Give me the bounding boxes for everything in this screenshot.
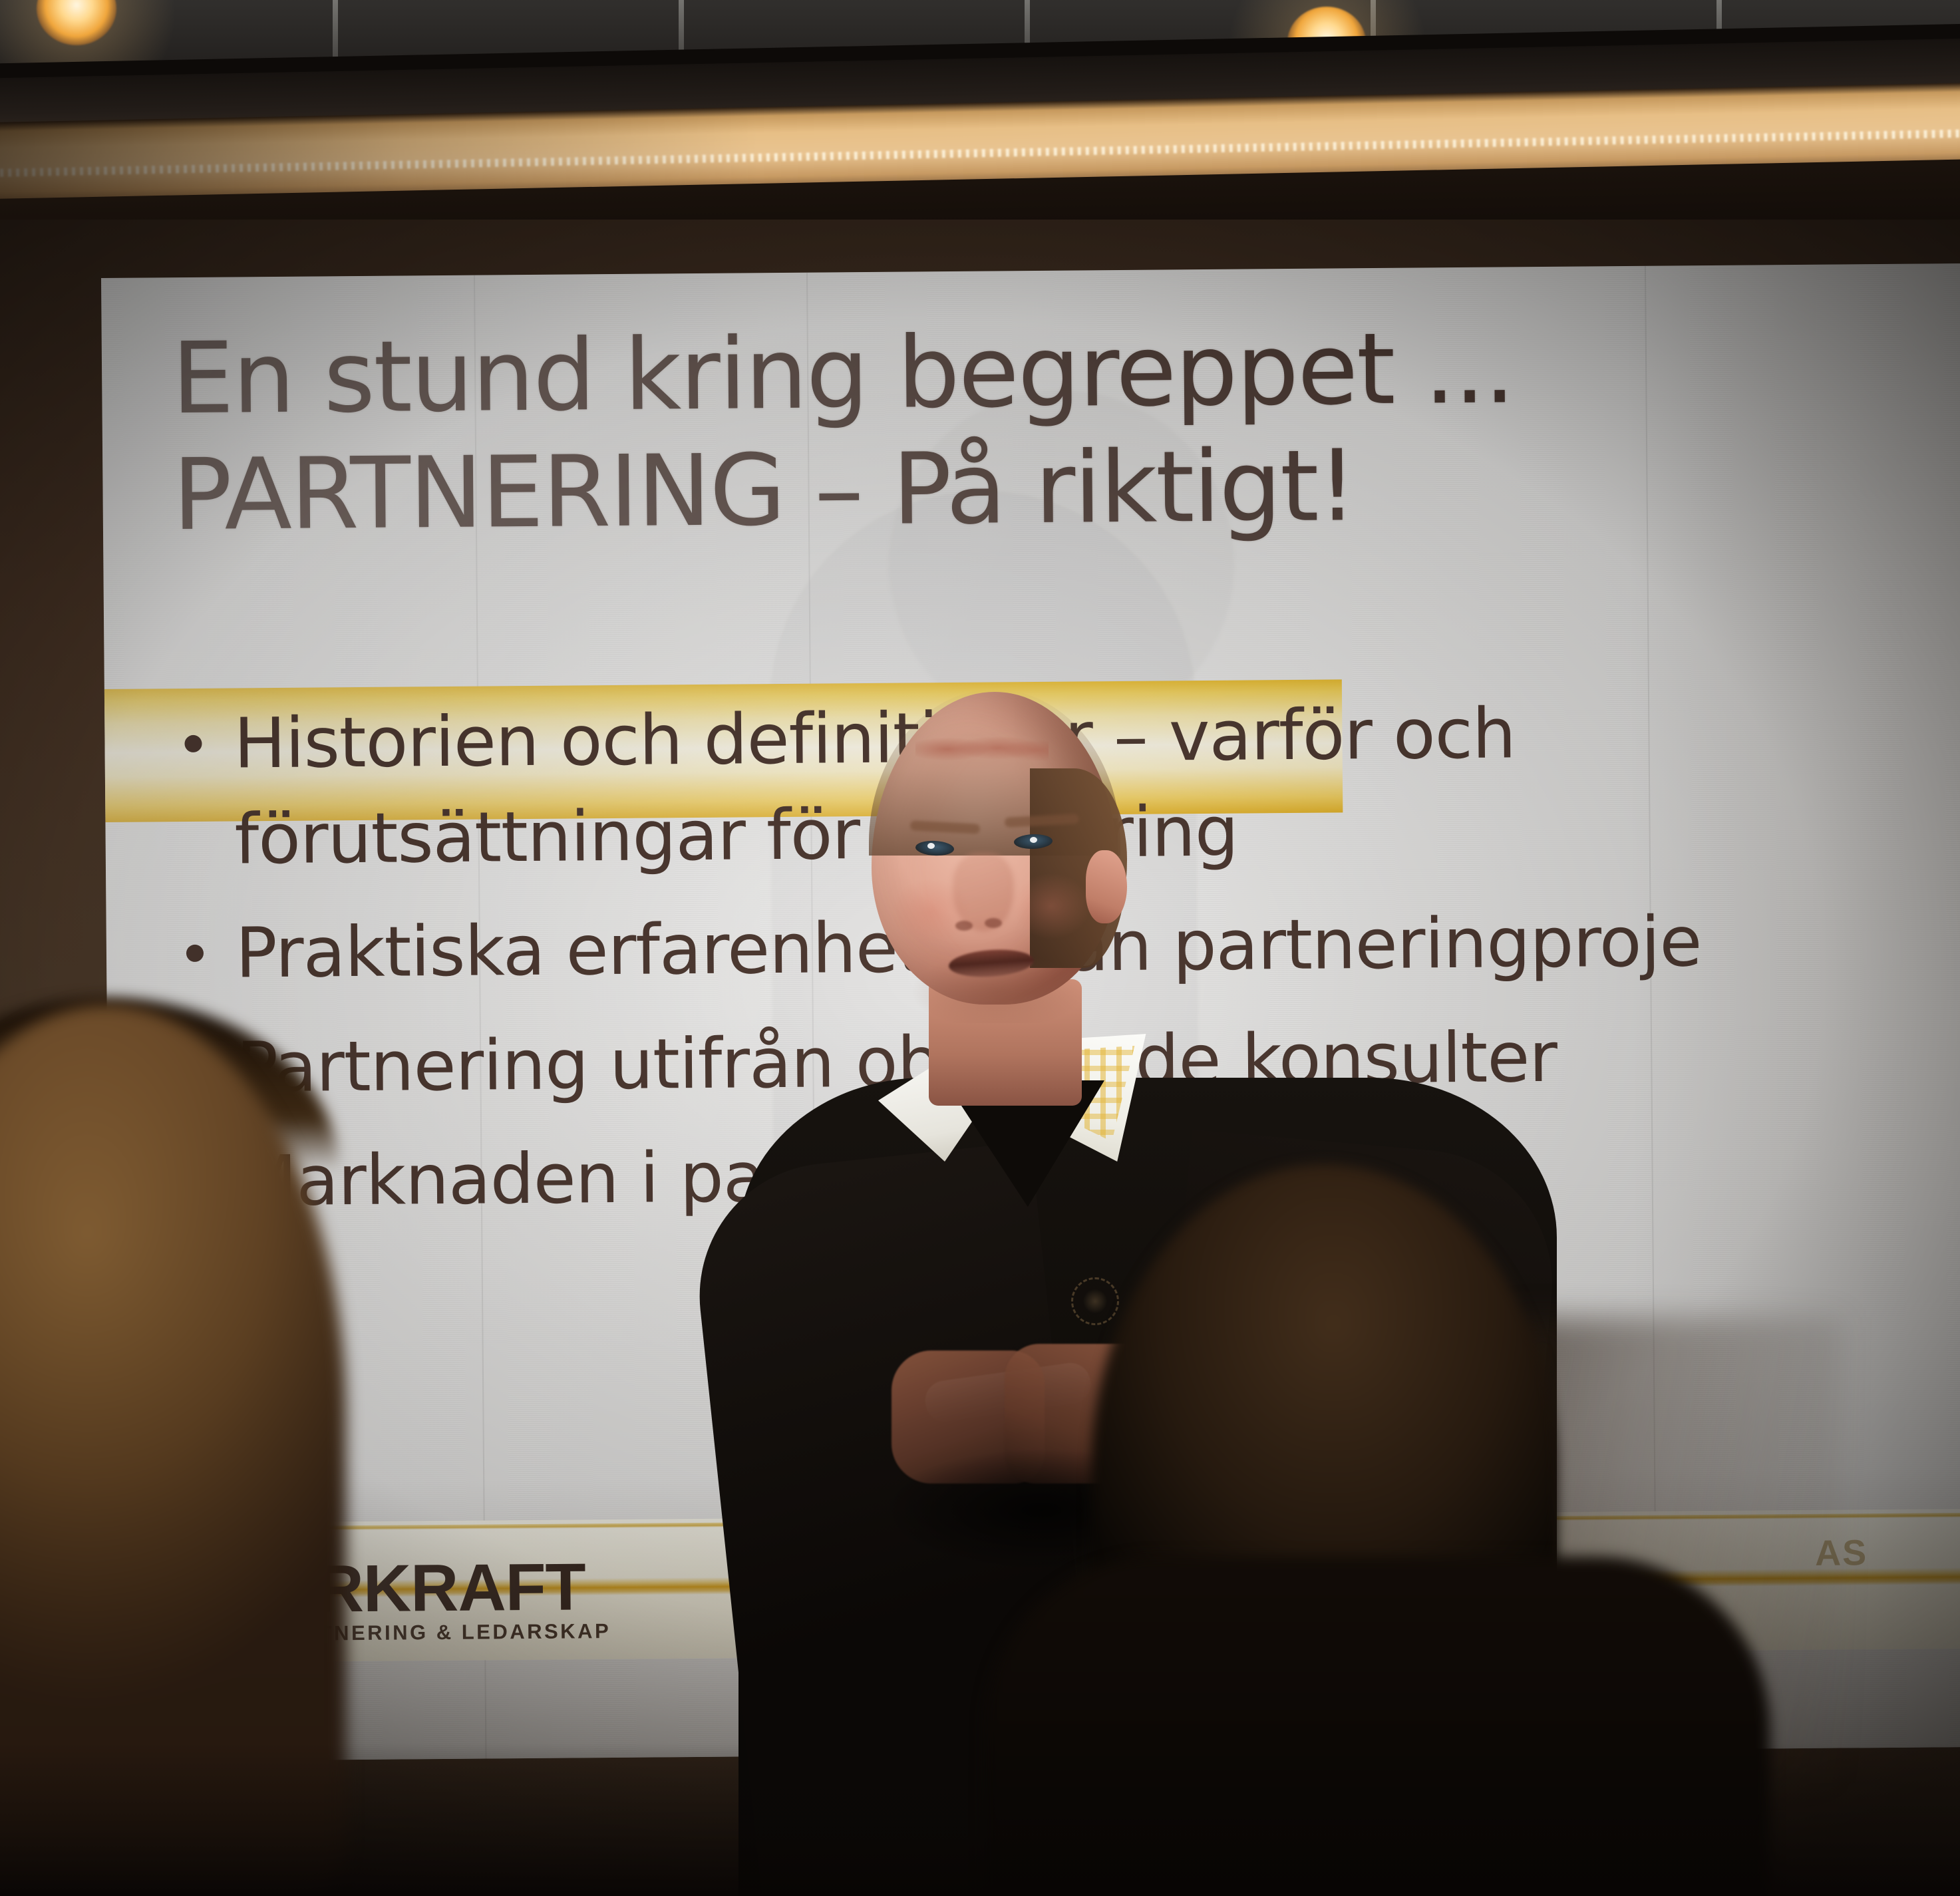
sweater-emblem-inner	[1083, 1289, 1107, 1313]
presentation-scene: En stund kring begreppet ... PARTNERING …	[0, 0, 1960, 1896]
eye-highlight-left	[927, 843, 935, 849]
speaker-chin-shadow	[898, 917, 1098, 1023]
speaker-forehead	[915, 734, 1049, 765]
eye-highlight-right	[1030, 837, 1037, 843]
speaker-ear	[1086, 850, 1127, 923]
foreground-falloff	[0, 1743, 1960, 1896]
